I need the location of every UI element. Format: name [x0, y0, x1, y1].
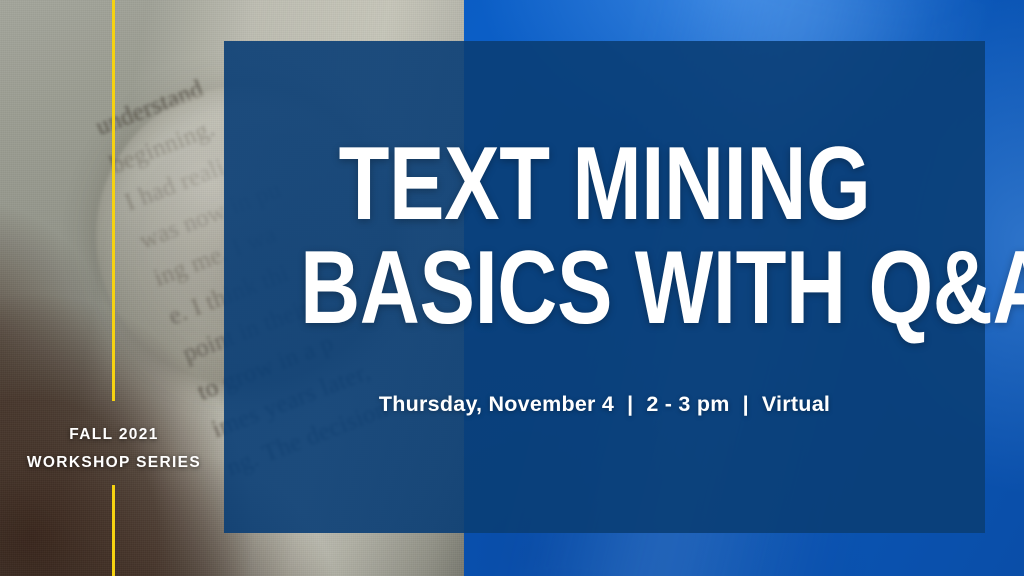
event-details: Thursday, November 4|2 - 3 pm|Virtual [224, 392, 985, 417]
details-separator: | [614, 392, 646, 417]
event-location: Virtual [762, 392, 830, 416]
kicker-line-season: FALL 2021 [0, 421, 228, 449]
yellow-accent-rule-bottom [112, 485, 115, 576]
title-line-1: TEXT MINING [300, 132, 909, 236]
event-time: 2 - 3 pm [646, 392, 729, 416]
details-separator: | [730, 392, 762, 417]
kicker-line-series: WORKSHOP SERIES [0, 449, 228, 477]
page-title: TEXT MINING BASICS WITH Q&A [300, 132, 909, 340]
event-date: Thursday, November 4 [379, 392, 614, 416]
yellow-accent-rule-top [112, 0, 115, 401]
title-line-2: BASICS WITH Q&A [300, 236, 909, 340]
event-promo-slide: understand beginning. I had reali was no… [0, 0, 1024, 576]
series-kicker: FALL 2021 WORKSHOP SERIES [0, 421, 228, 477]
